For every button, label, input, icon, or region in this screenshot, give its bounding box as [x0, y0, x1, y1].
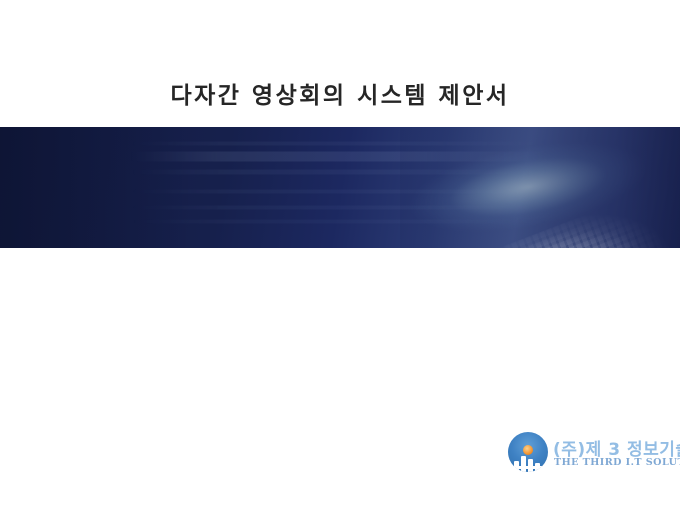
company-logo: (주)제 3 정보기술 THE THIRD I.T SOLUTION [508, 430, 676, 476]
hero-banner: www.third.co.kr / www.bronsis.com Confer… [0, 127, 680, 248]
slide-canvas: 다자간 영상회의 시스템 제안서 www.third.co.kr / www.b… [0, 0, 680, 510]
page-title: 다자간 영상회의 시스템 제안서 [0, 76, 680, 110]
banner-vignette [0, 127, 680, 248]
sun-icon [523, 445, 533, 455]
logo-baseline [511, 466, 545, 470]
pillar-2 [521, 456, 526, 472]
sunrise-pillars-icon [508, 432, 548, 472]
company-tagline-en: THE THIRD I.T SOLUTION [554, 457, 680, 468]
